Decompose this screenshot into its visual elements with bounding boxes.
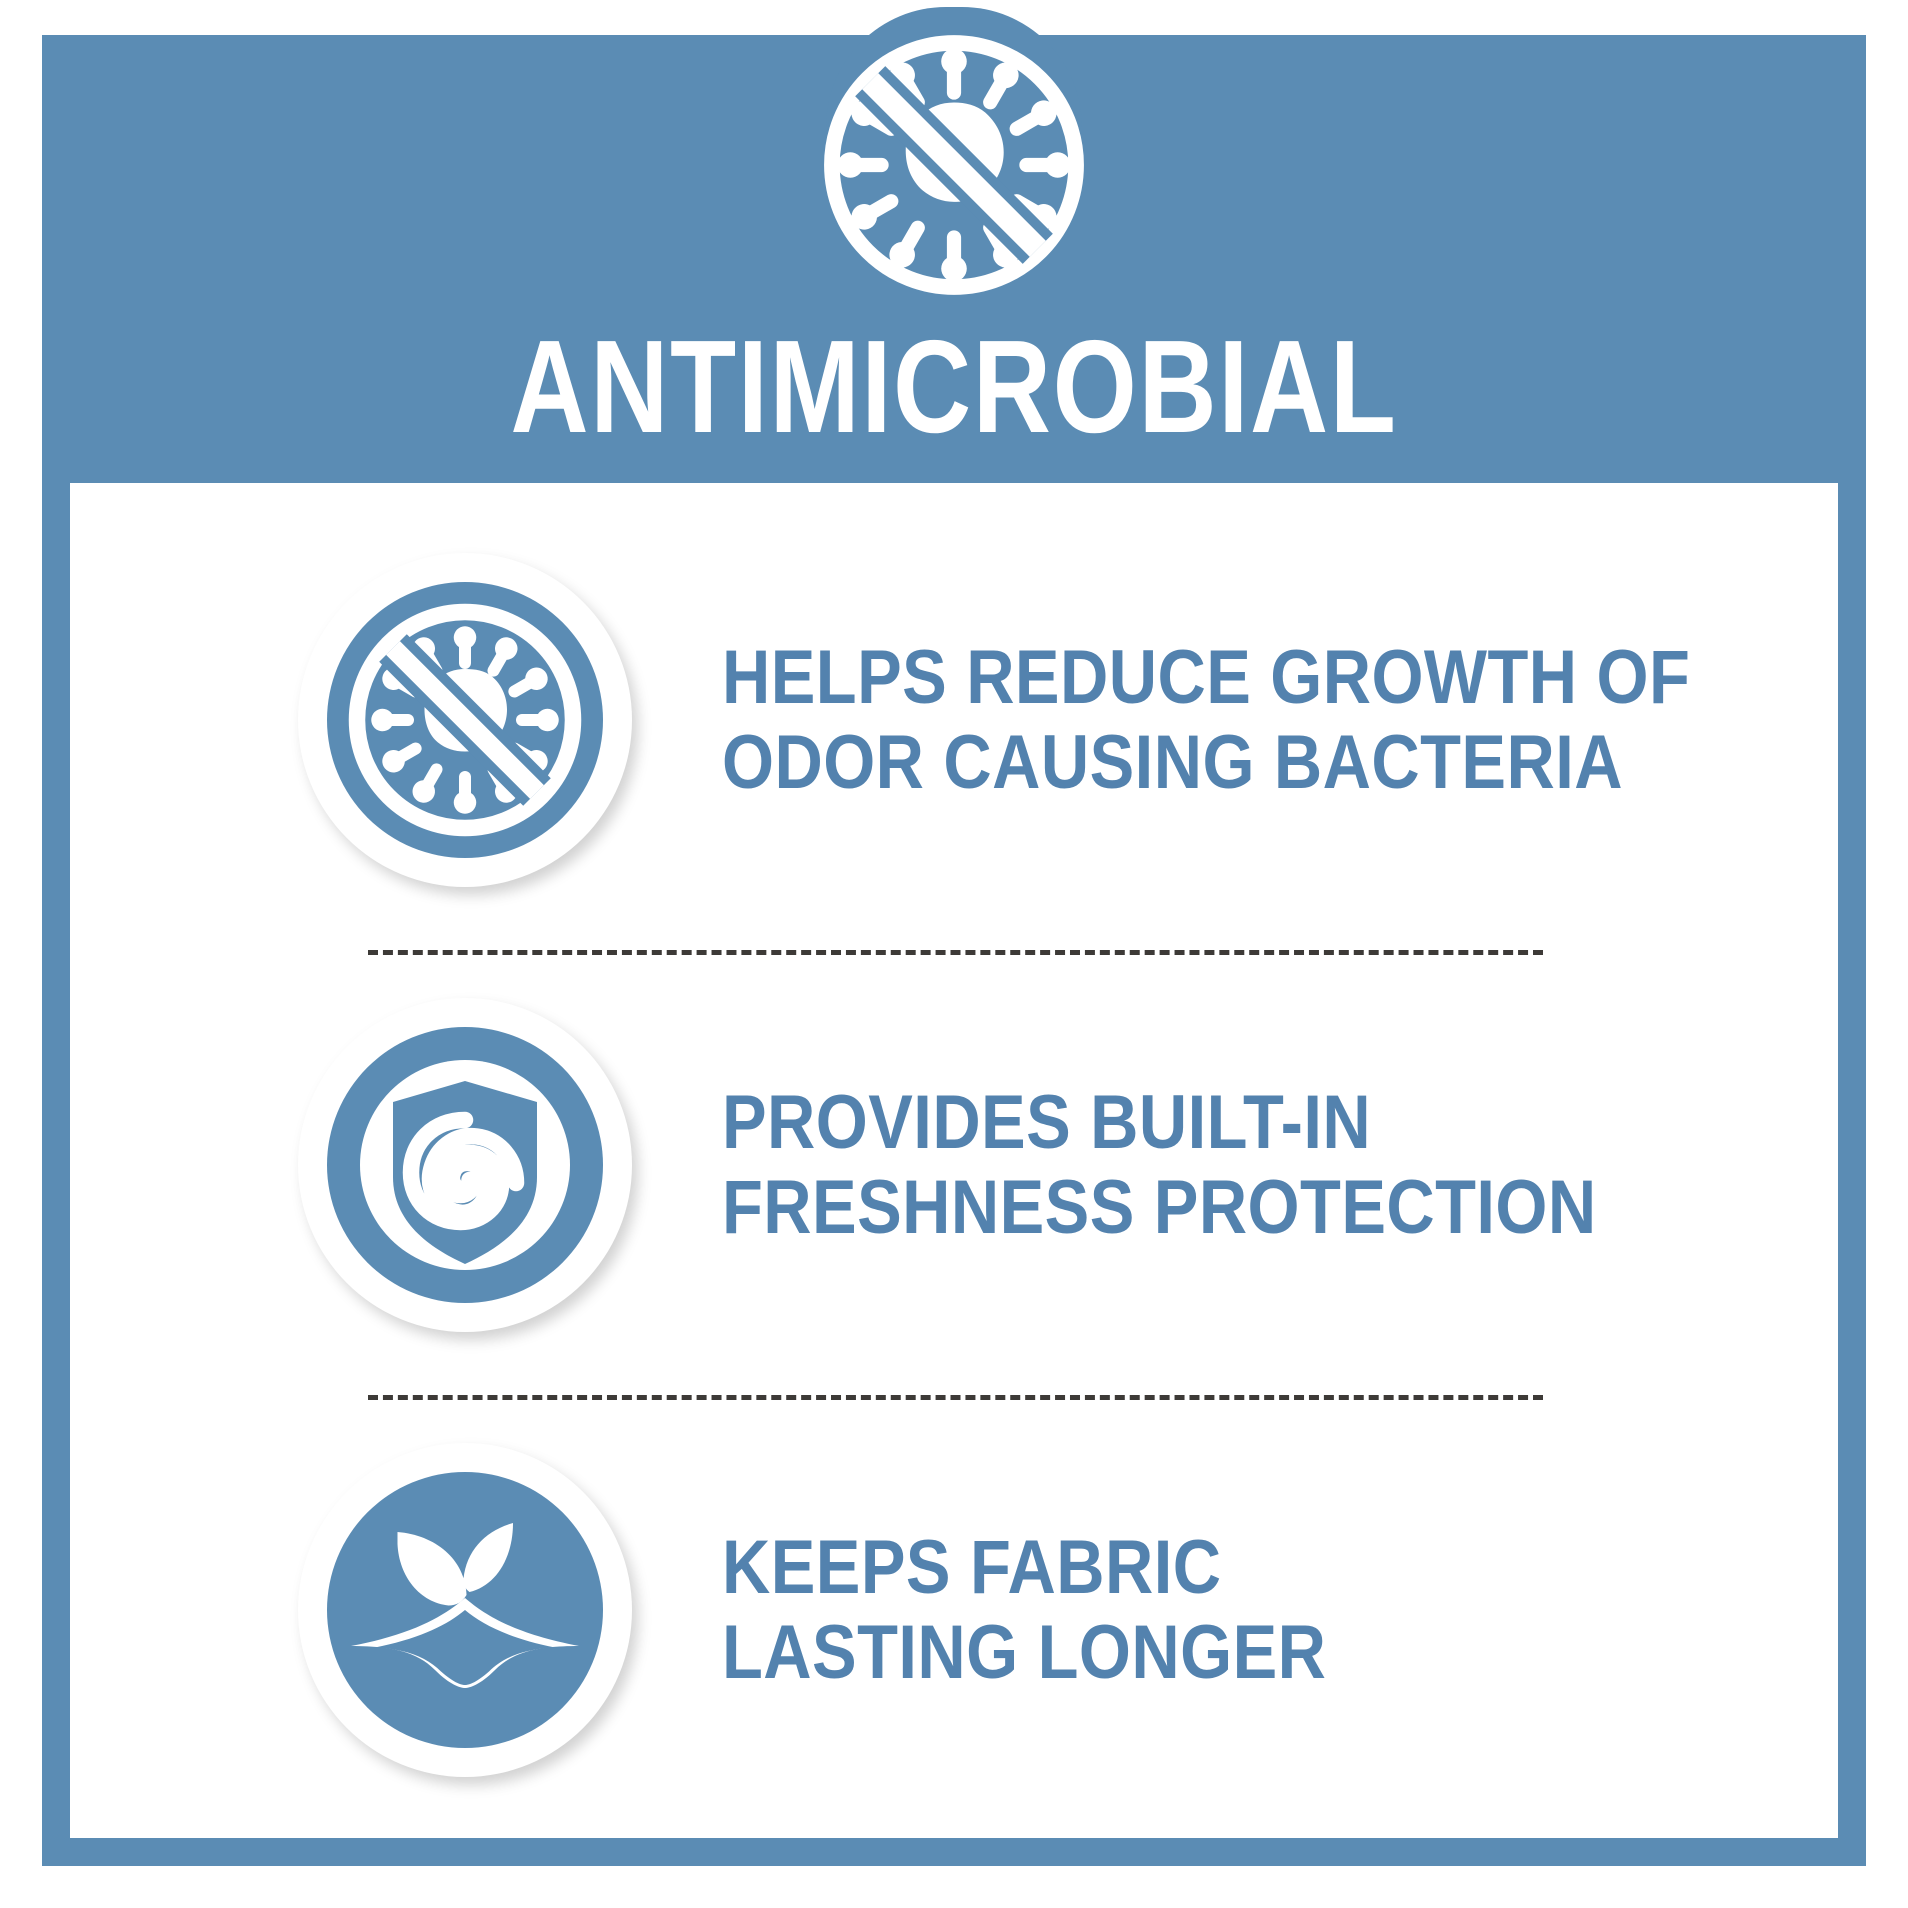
feature-line-1: KEEPS FABRIC bbox=[722, 1525, 1326, 1610]
header-band: ANTIMICROBIAL bbox=[42, 35, 1866, 483]
divider bbox=[368, 1395, 1543, 1400]
leaf-sprout-badge-icon bbox=[298, 1443, 632, 1777]
feature-line-1: HELPS REDUCE GROWTH OF bbox=[722, 635, 1690, 720]
feature-text: HELPS REDUCE GROWTH OF ODOR CAUSING BACT… bbox=[722, 635, 1690, 805]
list-item: KEEPS FABRIC LASTING LONGER bbox=[70, 1415, 1838, 1805]
no-germs-icon bbox=[812, 23, 1096, 307]
feature-text: KEEPS FABRIC LASTING LONGER bbox=[722, 1525, 1326, 1695]
feature-line-2: ODOR CAUSING BACTERIA bbox=[722, 720, 1690, 805]
antimicrobial-infographic: ANTIMICROBIAL bbox=[0, 0, 1908, 1908]
no-germs-badge-icon bbox=[298, 553, 632, 887]
feature-text: PROVIDES BUILT-IN FRESHNESS PROTECTION bbox=[722, 1080, 1597, 1250]
page-title: ANTIMICROBIAL bbox=[206, 321, 1702, 453]
list-item: PROVIDES BUILT-IN FRESHNESS PROTECTION bbox=[70, 970, 1838, 1360]
feature-line-2: LASTING LONGER bbox=[722, 1610, 1326, 1695]
feature-list: HELPS REDUCE GROWTH OF ODOR CAUSING BACT… bbox=[70, 483, 1838, 1838]
divider bbox=[368, 950, 1543, 955]
feature-line-2: FRESHNESS PROTECTION bbox=[722, 1165, 1597, 1250]
list-item: HELPS REDUCE GROWTH OF ODOR CAUSING BACT… bbox=[70, 525, 1838, 915]
feature-line-1: PROVIDES BUILT-IN bbox=[722, 1080, 1597, 1165]
shield-swirl-badge-icon bbox=[298, 998, 632, 1332]
